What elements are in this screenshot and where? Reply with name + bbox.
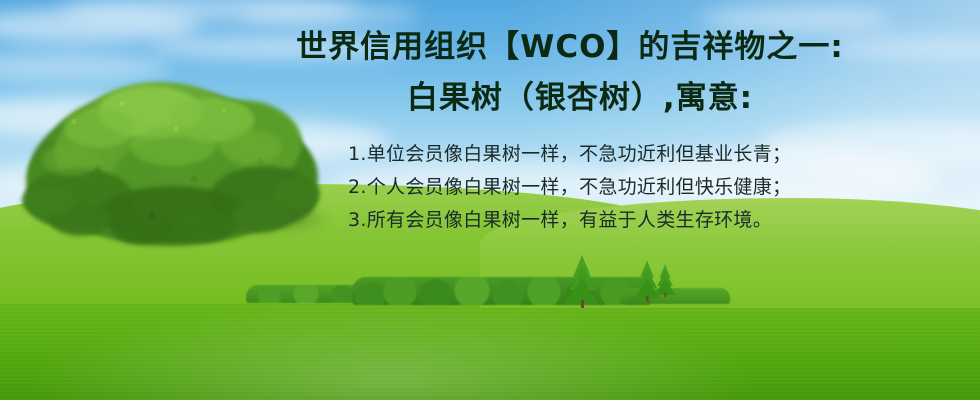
- banner-title-line-1: 世界信用组织【WCO】的吉祥物之一:: [180, 32, 960, 63]
- banner-text-layer: 世界信用组织【WCO】的吉祥物之一: 白果树（银杏树）,寓意: 1.单位会员像白…: [0, 0, 980, 400]
- wco-mascot-banner: 世界信用组织【WCO】的吉祥物之一: 白果树（银杏树）,寓意: 1.单位会员像白…: [0, 0, 980, 400]
- banner-bullet-item: 1.单位会员像白果树一样，不急功近利但基业长青；: [348, 138, 791, 171]
- banner-bullet-item: 2.个人会员像白果树一样，不急功近利但快乐健康；: [348, 171, 791, 204]
- banner-bullet-item: 3.所有会员像白果树一样，有益于人类生存环境。: [348, 204, 791, 237]
- banner-title-line-2: 白果树（银杏树）,寓意:: [190, 83, 970, 114]
- banner-bullet-list: 1.单位会员像白果树一样，不急功近利但基业长青； 2.个人会员像白果树一样，不急…: [348, 138, 791, 237]
